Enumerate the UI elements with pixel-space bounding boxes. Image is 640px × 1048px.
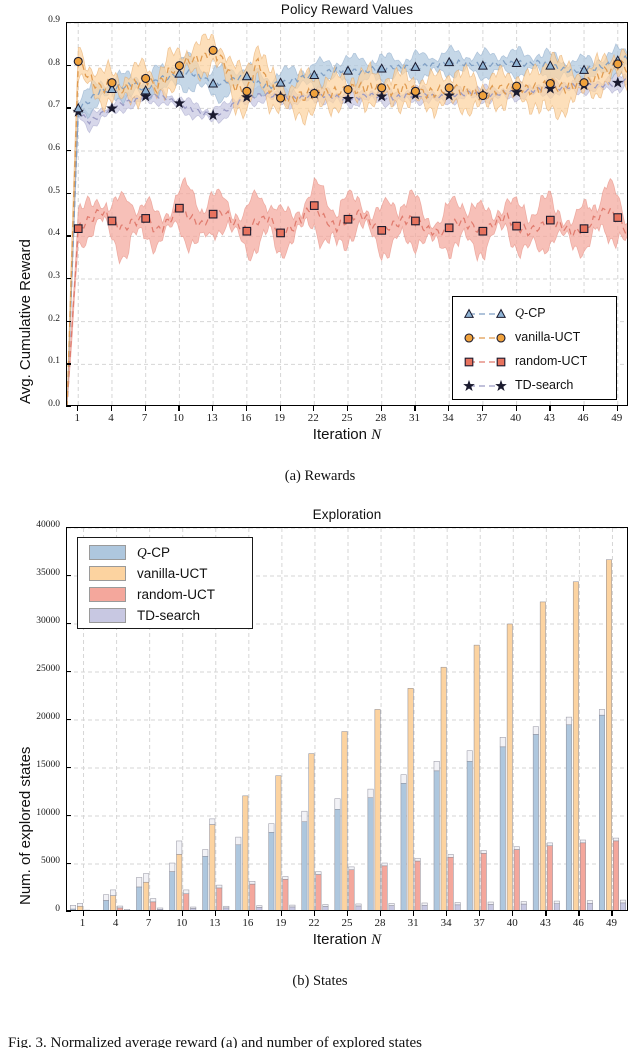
figure-container: Policy Reward Values Avg. Cumulative Rew… <box>0 0 640 1048</box>
x-tick-label: 40 <box>502 412 530 424</box>
y-tick-label: 0.1 <box>24 356 60 366</box>
y-tick-mark <box>66 863 71 864</box>
figure-caption: Fig. 3. Normalized average reward (a) an… <box>0 1035 640 1048</box>
y-tick-mark <box>66 65 71 66</box>
x-tick-mark <box>178 406 179 411</box>
legend-label: TD-search <box>509 378 573 392</box>
chart-title-exploration: Exploration <box>66 507 628 522</box>
subcaption-b: (b) States <box>0 973 640 990</box>
y-tick-label: 0.5 <box>24 186 60 196</box>
legend-color-swatch <box>89 545 126 560</box>
legend-item-random-uct: random-UCT <box>89 585 215 604</box>
y-tick-mark <box>66 22 71 23</box>
x-tick-label: 13 <box>200 917 230 929</box>
legend-label: vanilla-UCT <box>509 330 580 344</box>
x-tick-mark <box>448 406 449 411</box>
x-tick-mark <box>281 911 282 916</box>
legend-label: random-UCT <box>126 587 215 602</box>
panel-rewards: Policy Reward Values Avg. Cumulative Rew… <box>0 0 640 455</box>
y-tick-label: 25000 <box>8 664 60 674</box>
legend-marker-square-icon <box>461 355 509 367</box>
x-tick-label: 28 <box>367 412 395 424</box>
y-tick-mark <box>66 575 71 576</box>
x-tick-mark <box>617 406 618 411</box>
y-tick-label: 40000 <box>8 520 60 530</box>
x-axis-label-symbol: N <box>371 932 381 948</box>
y-tick-mark <box>66 671 71 672</box>
x-axis-label-symbol: N <box>371 427 381 443</box>
x-tick-mark <box>182 911 183 916</box>
x-tick-mark <box>414 406 415 411</box>
x-tick-label: 34 <box>434 412 462 424</box>
x-tick-label: 4 <box>101 917 131 929</box>
x-tick-mark <box>512 911 513 916</box>
x-tick-mark <box>111 406 112 411</box>
y-tick-label: 0 <box>8 904 60 914</box>
subcaption-a: (a) Rewards <box>0 468 640 485</box>
y-tick-label: 0.0 <box>24 399 60 409</box>
y-tick-mark <box>66 623 71 624</box>
y-tick-mark <box>66 107 71 108</box>
y-tick-mark <box>66 815 71 816</box>
legend-item-td-search: TD-search <box>89 606 200 625</box>
x-tick-mark <box>212 406 213 411</box>
x-tick-label: 13 <box>198 412 226 424</box>
legend-marker-star-icon <box>461 379 509 391</box>
panel-states: Exploration Num. of explored states 0500… <box>0 505 640 960</box>
x-axis-label-rewards: Iteration N <box>66 426 628 444</box>
y-tick-mark <box>66 150 71 151</box>
x-tick-label: 19 <box>266 412 294 424</box>
x-tick-mark <box>381 406 382 411</box>
x-tick-label: 19 <box>266 917 296 929</box>
y-tick-mark <box>66 719 71 720</box>
x-tick-label: 43 <box>535 412 563 424</box>
x-tick-label: 25 <box>333 412 361 424</box>
x-tick-label: 40 <box>497 917 527 929</box>
legend-item-td-search: TD-search <box>461 374 573 396</box>
x-tick-mark <box>611 911 612 916</box>
x-tick-label: 22 <box>299 917 329 929</box>
legend-item-random-uct: random-UCT <box>461 350 587 372</box>
legend-label: Q-CP <box>126 545 170 561</box>
y-tick-label: 0.9 <box>24 15 60 25</box>
y-tick-label: 0.2 <box>24 314 60 324</box>
x-tick-label: 7 <box>134 917 164 929</box>
legend-label: vanilla-UCT <box>126 566 208 581</box>
y-tick-mark <box>66 911 71 912</box>
x-tick-mark <box>347 911 348 916</box>
x-tick-mark <box>280 406 281 411</box>
legend-item-q-cp: Q-CP <box>89 543 170 562</box>
x-tick-mark <box>83 911 84 916</box>
x-tick-label: 10 <box>164 412 192 424</box>
legend-item-vanilla-uct: vanilla-UCT <box>89 564 208 583</box>
x-axis-label-text: Iteration <box>313 426 367 443</box>
legend-item-q-cp: Q-CP <box>461 302 546 324</box>
x-tick-mark <box>347 406 348 411</box>
x-tick-label: 10 <box>167 917 197 929</box>
x-tick-label: 34 <box>431 917 461 929</box>
x-tick-label: 37 <box>464 917 494 929</box>
x-tick-mark <box>380 911 381 916</box>
x-tick-mark <box>149 911 150 916</box>
x-tick-mark <box>578 911 579 916</box>
x-tick-mark <box>479 911 480 916</box>
x-tick-label: 43 <box>530 917 560 929</box>
x-tick-mark <box>116 911 117 916</box>
y-tick-label: 0.7 <box>24 100 60 110</box>
chart-title-rewards: Policy Reward Values <box>66 2 628 17</box>
x-tick-mark <box>516 406 517 411</box>
y-tick-label: 20000 <box>8 712 60 722</box>
x-axis-label-states: Iteration N <box>66 931 628 949</box>
y-tick-mark <box>66 193 71 194</box>
y-tick-label: 15000 <box>8 760 60 770</box>
x-tick-mark <box>313 406 314 411</box>
x-tick-label: 22 <box>299 412 327 424</box>
y-axis-label-states: Num. of explored states <box>17 747 34 905</box>
x-tick-mark <box>413 911 414 916</box>
x-tick-mark <box>246 406 247 411</box>
legend-color-swatch <box>89 566 126 581</box>
legend-marker-triangle-icon <box>461 307 509 319</box>
legend-label: random-UCT <box>509 354 587 368</box>
x-tick-label: 31 <box>400 412 428 424</box>
y-tick-mark <box>66 363 71 364</box>
x-tick-label: 31 <box>398 917 428 929</box>
x-tick-label: 49 <box>603 412 631 424</box>
y-tick-mark <box>66 278 71 279</box>
legend-item-vanilla-uct: vanilla-UCT <box>461 326 580 348</box>
x-tick-label: 7 <box>131 412 159 424</box>
x-tick-label: 37 <box>468 412 496 424</box>
x-tick-mark <box>248 911 249 916</box>
legend-marker-circle-icon <box>461 331 509 343</box>
y-tick-label: 0.3 <box>24 271 60 281</box>
y-tick-label: 0.4 <box>24 228 60 238</box>
x-axis-label-text: Iteration <box>313 931 367 948</box>
legend-color-swatch <box>89 608 126 623</box>
x-tick-label: 16 <box>232 412 260 424</box>
x-tick-label: 1 <box>68 917 98 929</box>
y-tick-label: 10000 <box>8 808 60 818</box>
y-tick-mark <box>66 767 71 768</box>
y-tick-mark <box>66 406 71 407</box>
x-tick-mark <box>482 406 483 411</box>
x-tick-label: 49 <box>596 917 626 929</box>
x-tick-mark <box>549 406 550 411</box>
y-tick-mark <box>66 527 71 528</box>
legend-color-swatch <box>89 587 126 602</box>
x-tick-mark <box>583 406 584 411</box>
y-tick-label: 35000 <box>8 568 60 578</box>
y-tick-label: 5000 <box>8 856 60 866</box>
x-tick-mark <box>77 406 78 411</box>
legend-label: Q-CP <box>509 306 546 321</box>
x-tick-label: 4 <box>97 412 125 424</box>
x-tick-mark <box>545 911 546 916</box>
legend-states: Q-CPvanilla-UCTrandom-UCTTD-search <box>77 537 253 629</box>
x-tick-label: 46 <box>563 917 593 929</box>
x-tick-mark <box>446 911 447 916</box>
x-tick-mark <box>215 911 216 916</box>
y-tick-label: 30000 <box>8 616 60 626</box>
x-tick-mark <box>314 911 315 916</box>
legend-label: TD-search <box>126 608 200 623</box>
x-tick-label: 25 <box>332 917 362 929</box>
x-tick-label: 1 <box>63 412 91 424</box>
x-tick-label: 28 <box>365 917 395 929</box>
x-tick-mark <box>145 406 146 411</box>
x-tick-label: 16 <box>233 917 263 929</box>
y-tick-mark <box>66 235 71 236</box>
y-tick-label: 0.8 <box>24 58 60 68</box>
x-tick-label: 46 <box>569 412 597 424</box>
legend-rewards: Q-CPvanilla-UCTrandom-UCTTD-search <box>452 296 617 400</box>
y-tick-mark <box>66 321 71 322</box>
y-tick-label: 0.6 <box>24 143 60 153</box>
